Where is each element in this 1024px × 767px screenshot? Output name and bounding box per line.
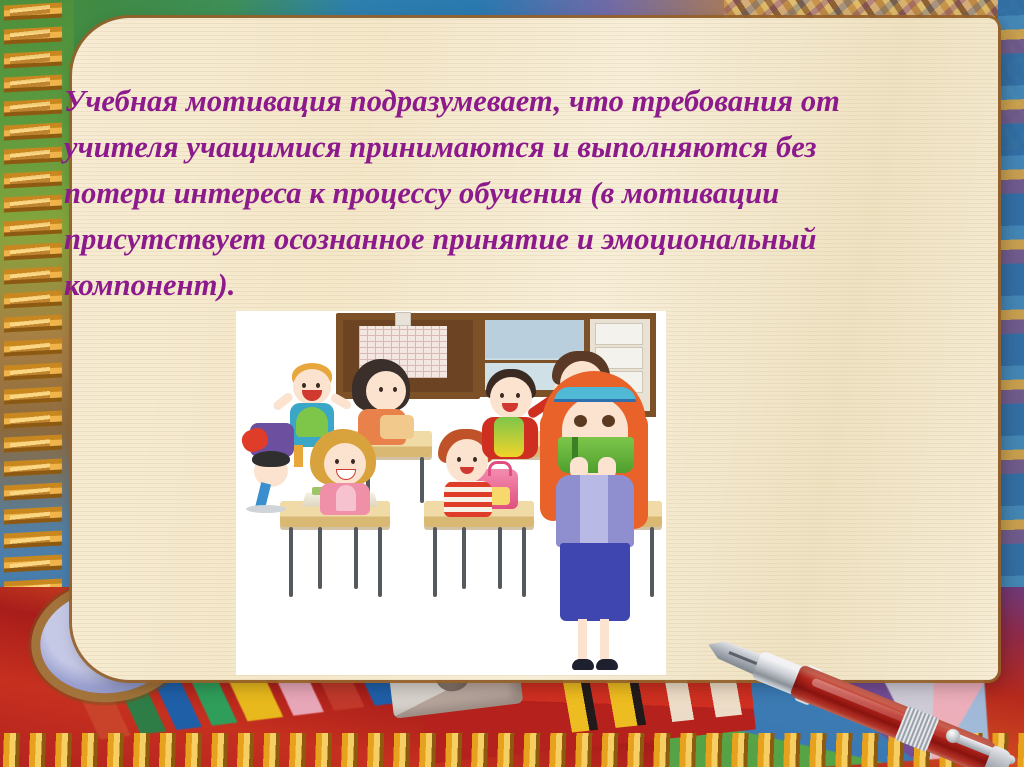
desk-leg [318,527,322,589]
eye [500,393,504,398]
shelf-row [595,323,643,345]
desk-leg [289,527,293,597]
board-clip-icon [395,312,411,326]
desk-leg [462,527,466,589]
desk-leg [420,457,424,503]
teacher-skirt [560,543,630,621]
student-blonde-girl [308,429,382,515]
desk-front-left [280,501,390,601]
striped-shirt [444,481,492,517]
eye [316,383,320,388]
eye [393,387,397,392]
eye [335,459,339,464]
desk-leg [378,527,382,597]
text-line-3: потери интереса к процессу обучения (в м… [64,170,974,216]
text-line-5: компонент). [64,262,974,308]
eye [302,383,306,388]
teacher-shoe-right [596,659,618,670]
shadow [246,505,286,513]
face [490,377,532,419]
text-line-2: учителя учащимися принимаются и выполняю… [64,124,974,170]
teacher-eye-right [602,415,615,427]
teacher-eye-left [574,415,587,427]
teacher-headband [554,387,636,402]
face [366,371,406,411]
bottom-spiral-coil-icon [0,733,1024,767]
slide-body-text: Учебная мотивация подразумевает, что тре… [64,78,974,308]
text-line-4: присутствует осознанное принятие и эмоци… [64,216,974,262]
eye [379,387,383,392]
teacher-shoe-left [572,659,594,670]
hair [252,451,290,467]
eye [516,393,520,398]
desk-leg [433,527,437,597]
desk-leg [498,527,502,589]
teacher-figure [536,371,652,671]
student-upside-down [238,423,304,515]
classroom-illustration [236,311,666,675]
presentation-slide: Учебная мотивация подразумевает, что тре… [0,0,1024,767]
desk-leg [522,527,526,597]
sweater [494,417,524,457]
teacher-blouse-placket [580,475,608,547]
eye [457,457,461,462]
desk-leg [354,527,358,589]
apron [336,485,356,511]
text-line-1: Учебная мотивация подразумевает, что тре… [64,78,974,124]
book-held [380,415,414,439]
eye [351,459,355,464]
